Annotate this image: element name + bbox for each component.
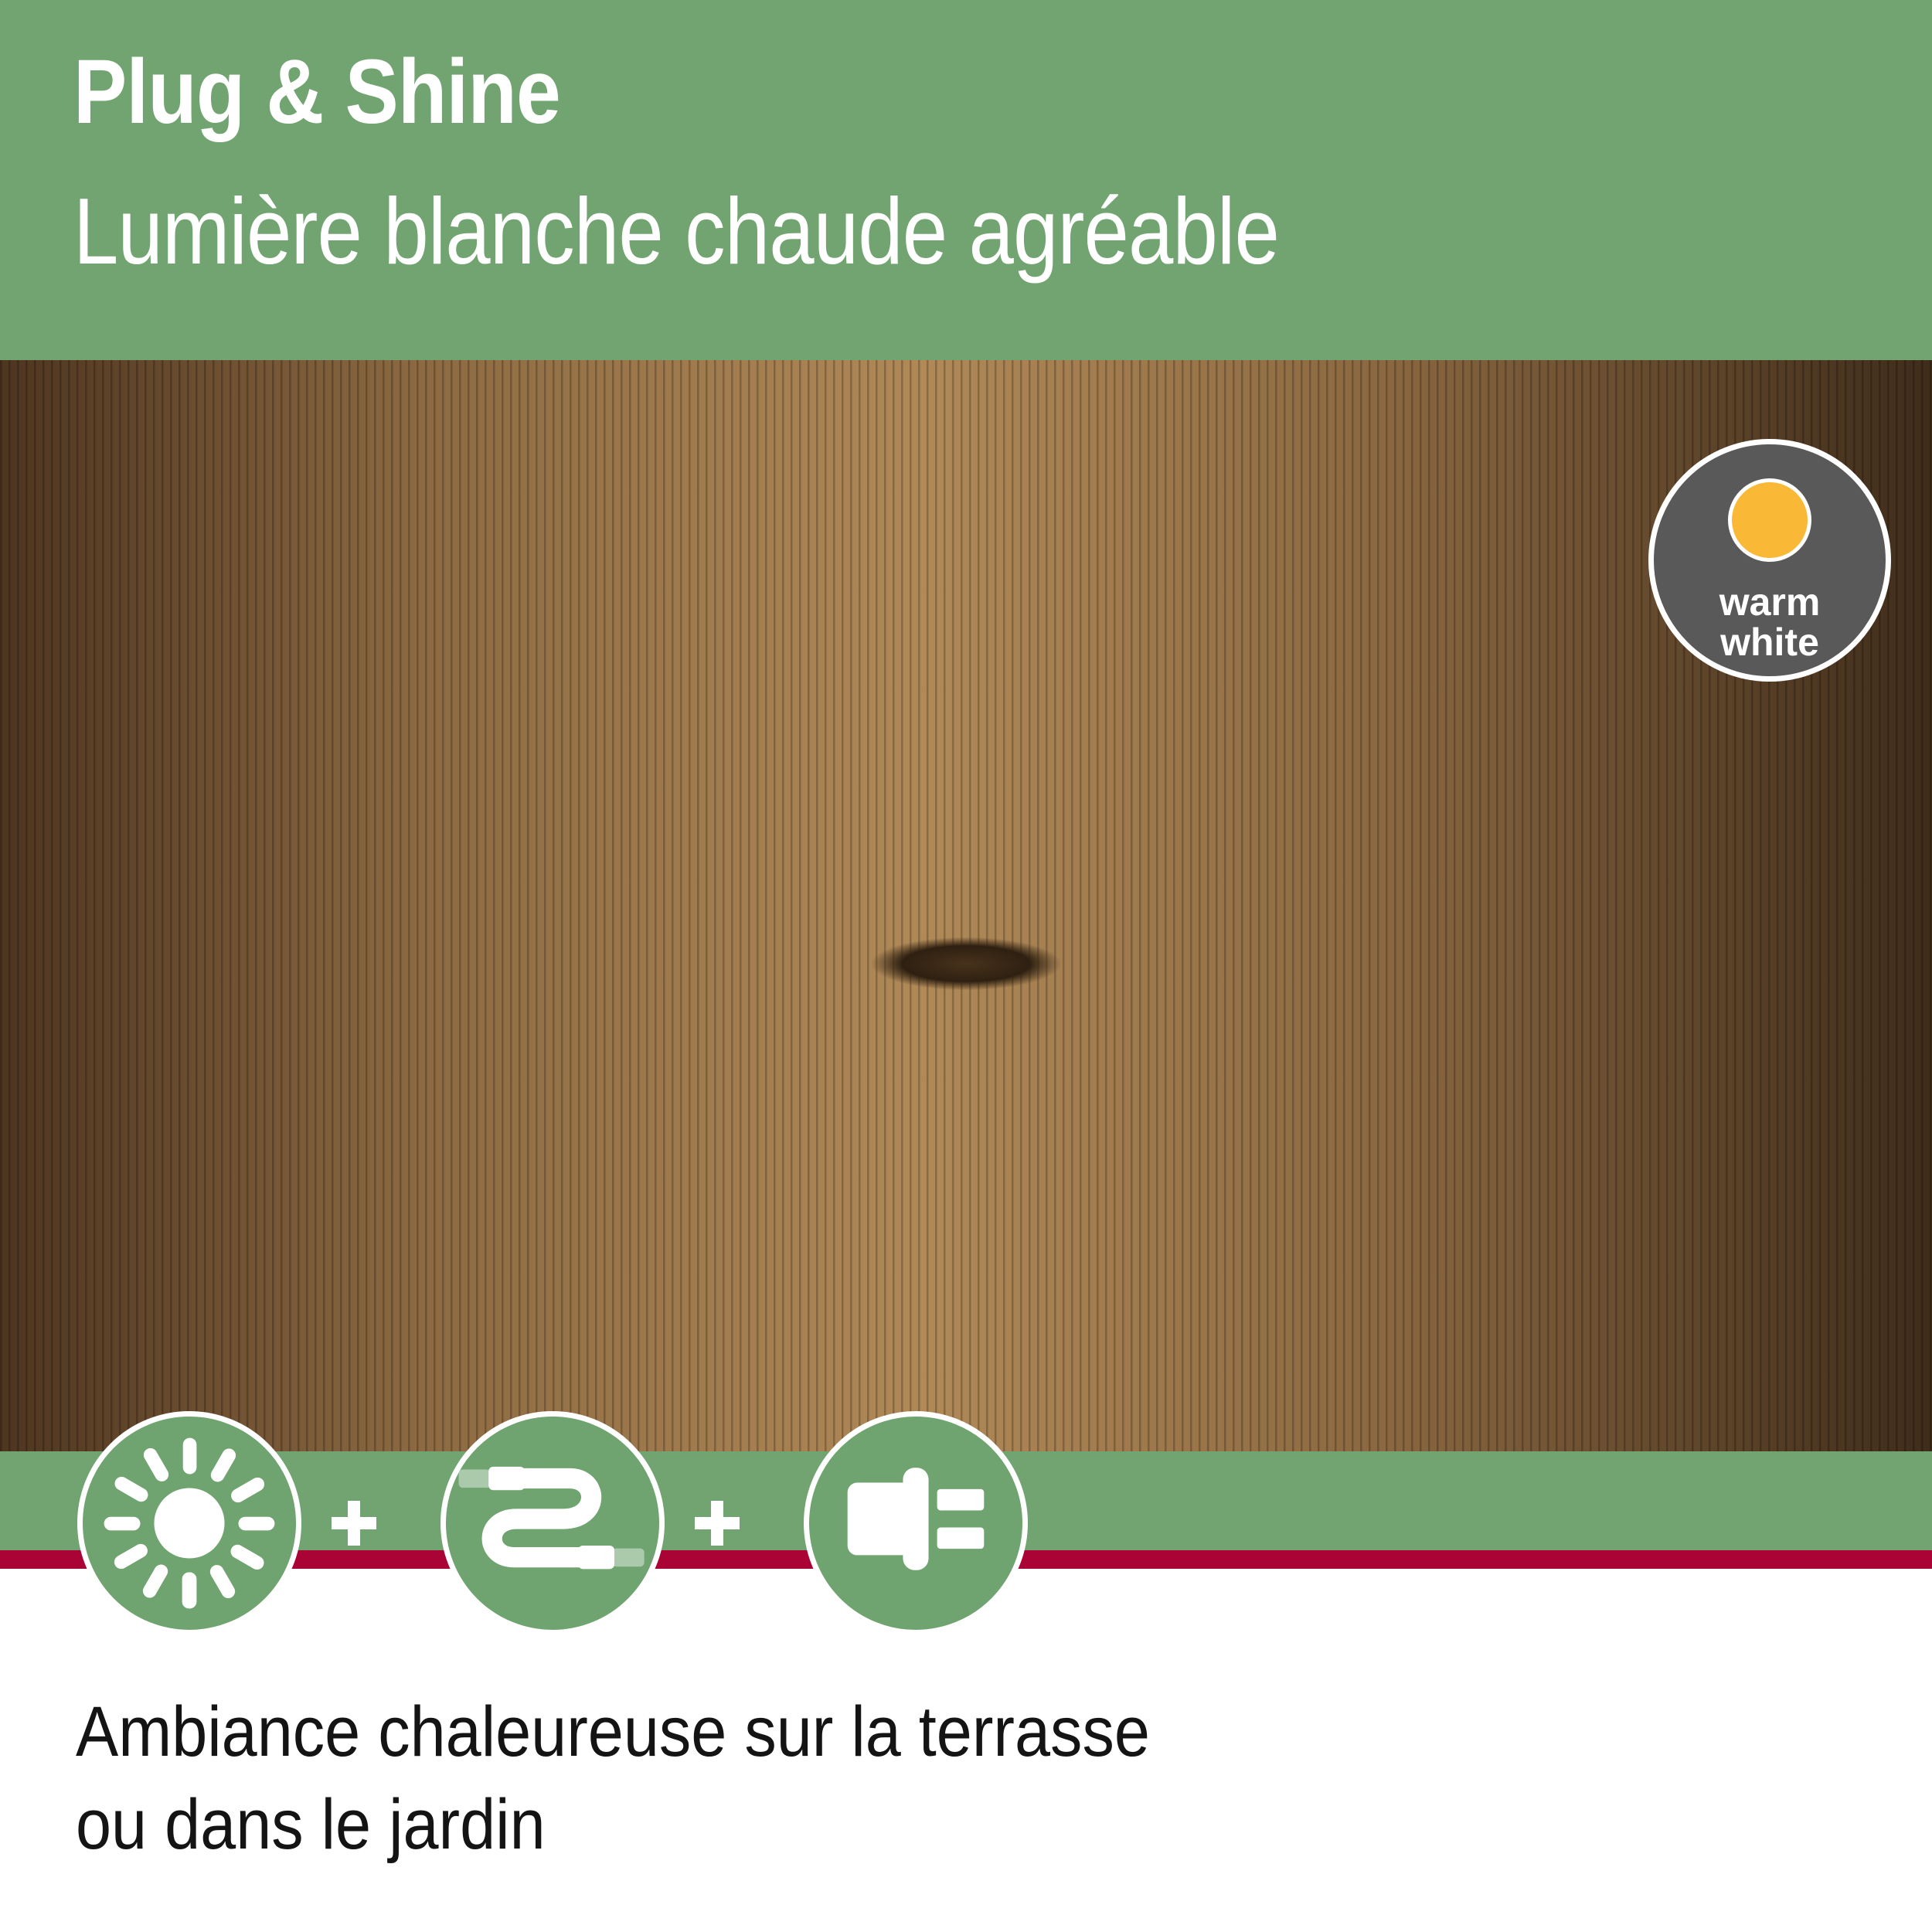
- warm-white-color-dot: [1728, 478, 1811, 562]
- caption-line-1: Ambiance chaleureuse sur la terrasse: [76, 1686, 1467, 1779]
- garden-photo: [0, 360, 1932, 1567]
- warm-white-label-line2: white: [1719, 622, 1821, 662]
- plug-icon: [804, 1411, 1028, 1635]
- feature-icon-row: [0, 1411, 1082, 1643]
- power-plug-icon: [809, 1417, 1022, 1630]
- warm-white-label-line1: warm: [1719, 582, 1821, 622]
- sun-icon: [83, 1417, 296, 1630]
- light-icon: [77, 1411, 301, 1635]
- warm-white-badge: warm white: [1648, 439, 1891, 682]
- warm-white-label: warm white: [1719, 582, 1821, 662]
- page-title: Plug & Shine: [73, 46, 560, 138]
- plus-separator-2: [695, 1501, 740, 1546]
- caption-line-2: ou dans le jardin: [76, 1779, 1467, 1872]
- trunk-base-mulch: [0, 360, 1932, 1567]
- caption-text: Ambiance chaleureuse sur la terrasse ou …: [76, 1686, 1467, 1871]
- product-marketing-image: Plug & Shine Lumière blanche chaude agré…: [0, 0, 1932, 1932]
- page-subtitle: Lumière blanche chaude agréable: [73, 184, 1279, 278]
- plus-separator-1: [332, 1501, 376, 1546]
- header-banner: Plug & Shine Lumière blanche chaude agré…: [0, 0, 1932, 360]
- cable-connector-icon: [446, 1417, 659, 1630]
- cable-icon: [440, 1411, 665, 1635]
